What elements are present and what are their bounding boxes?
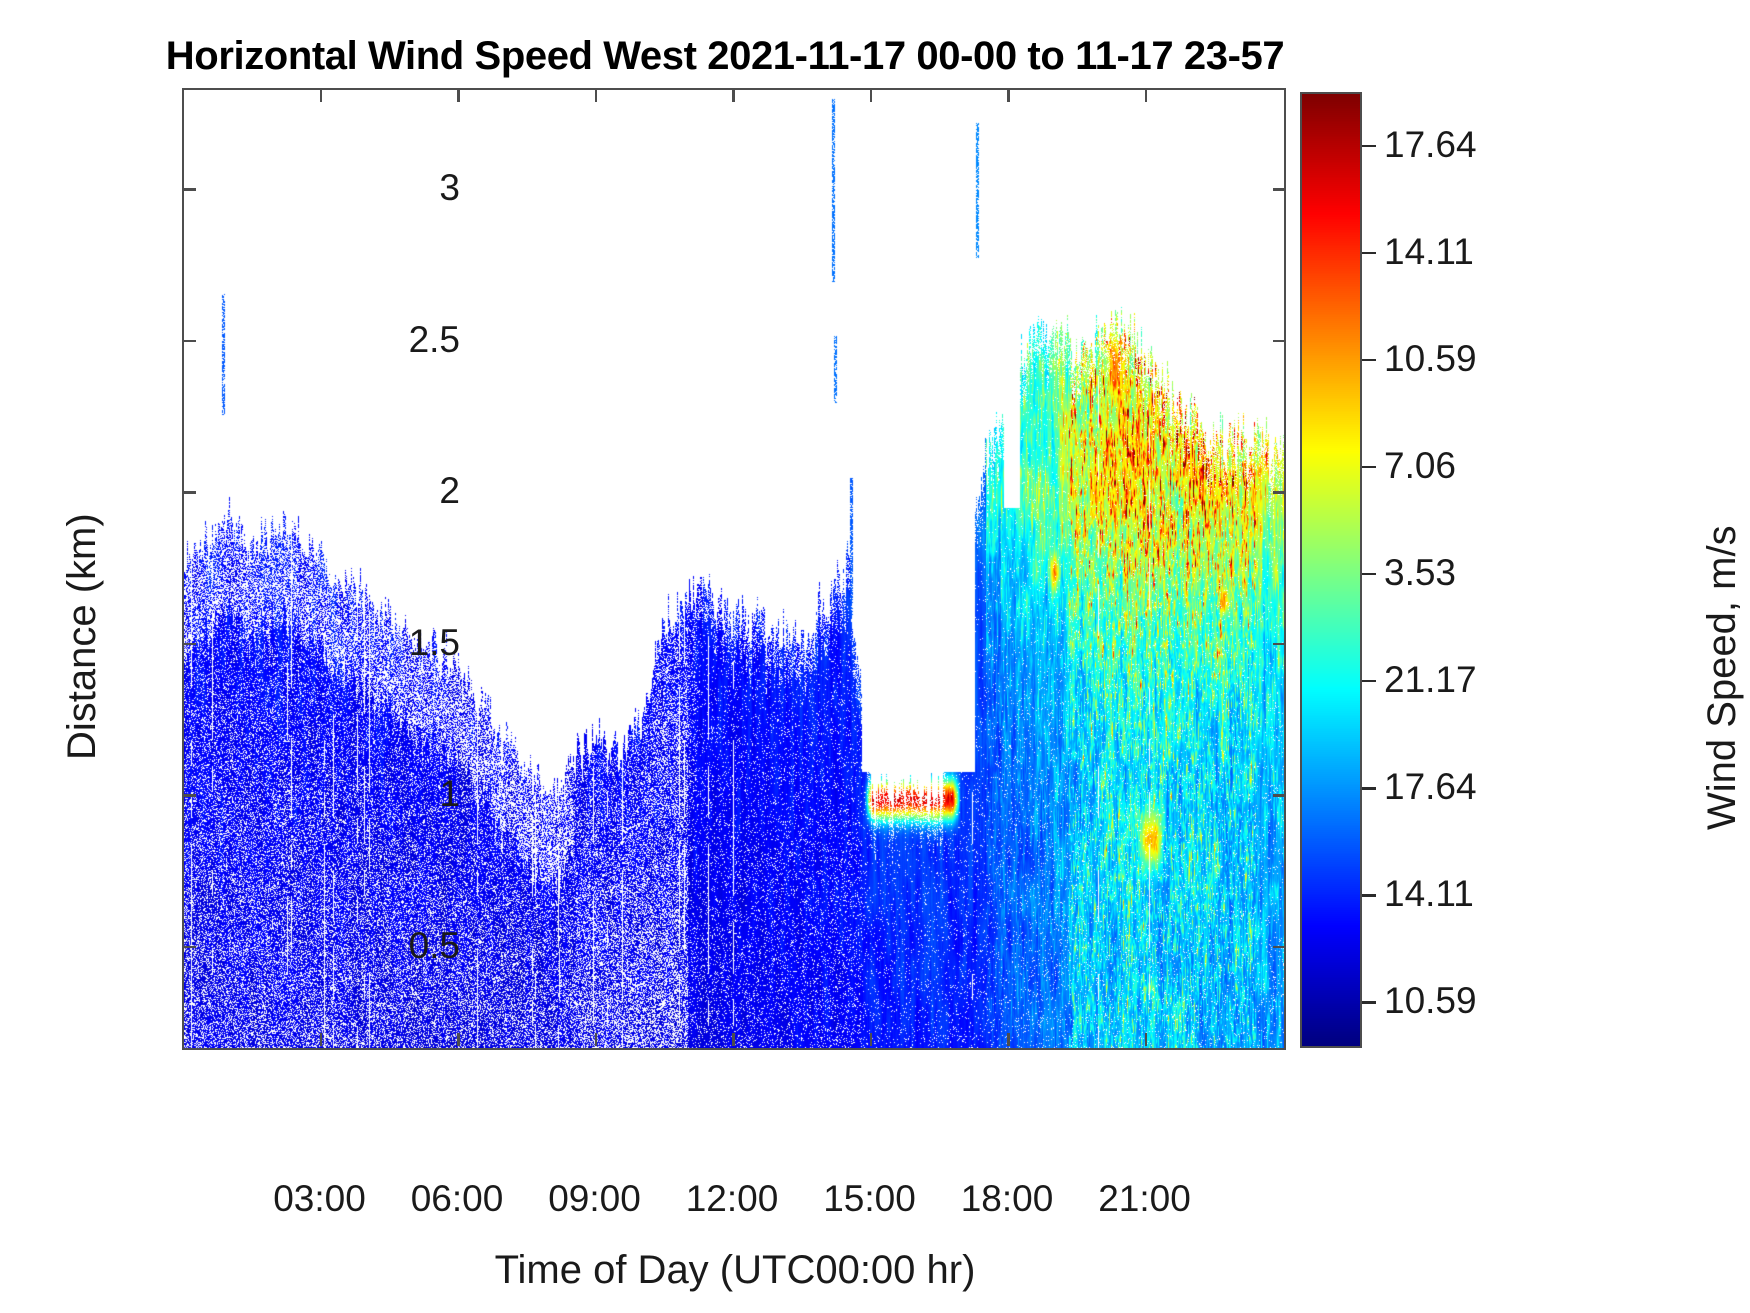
colorbar-title: Wind Speed, m/s [1700,525,1745,830]
x-tick-mark-top [457,89,460,102]
y-tick-mark [183,340,196,343]
y-tick-mark-right [1273,491,1286,494]
x-tick-mark-top [870,89,873,102]
colorbar-tick-mark [1362,359,1376,362]
y-tick-label: 2 [439,470,460,512]
y-tick-mark-right [1273,794,1286,797]
y-tick-mark-right [1273,188,1286,191]
x-tick-mark [595,1033,598,1046]
x-tick-mark [1007,1033,1010,1046]
y-tick-mark-right [1273,340,1286,343]
colorbar-tick-mark [1362,787,1376,790]
colorbar-tick-label: 17.64 [1384,124,1477,166]
colorbar-tick-label: 14.11 [1384,873,1474,915]
x-tick-mark-top [320,89,323,102]
y-tick-mark-right [1273,643,1286,646]
colorbar [1300,92,1362,1048]
y-tick-label: 1.5 [409,622,460,664]
x-tick-label: 12:00 [686,1178,779,1220]
chart-title: Horizontal Wind Speed West 2021-11-17 00… [0,34,1450,79]
colorbar-tick-mark [1362,573,1376,576]
x-tick-label: 15:00 [823,1178,916,1220]
x-tick-label: 09:00 [548,1178,641,1220]
figure-root: Horizontal Wind Speed West 2021-11-17 00… [0,0,1750,1313]
x-tick-mark [457,1033,460,1046]
plot-area [182,88,1286,1050]
y-tick-mark [183,643,196,646]
x-tick-mark-top [732,89,735,102]
colorbar-tick-label: 7.06 [1384,445,1456,487]
x-tick-label: 03:00 [273,1178,366,1220]
x-tick-mark-top [595,89,598,102]
colorbar-tick-label: 3.53 [1384,552,1456,594]
y-axis-title: Distance (km) [60,513,105,760]
colorbar-tick-mark [1362,145,1376,148]
heatmap-canvas [184,90,1284,1048]
y-tick-mark-right [1273,946,1286,949]
colorbar-gradient [1302,94,1360,1046]
x-tick-mark [1145,1033,1148,1046]
y-tick-label: 1 [439,773,460,815]
x-tick-mark-top [1145,89,1148,102]
y-tick-label: 3 [439,167,460,209]
colorbar-tick-mark [1362,252,1376,255]
y-tick-label: 0.5 [409,925,460,967]
y-tick-mark [183,491,196,494]
y-tick-mark [183,188,196,191]
colorbar-tick-mark [1362,466,1376,469]
x-tick-mark-top [1007,89,1010,102]
y-tick-mark [183,794,196,797]
colorbar-tick-label: 17.64 [1384,766,1477,808]
x-tick-mark [732,1033,735,1046]
x-tick-label: 21:00 [1098,1178,1191,1220]
colorbar-tick-label: 10.59 [1384,338,1477,380]
x-tick-mark [870,1033,873,1046]
x-tick-mark [320,1033,323,1046]
x-tick-label: 06:00 [411,1178,504,1220]
x-axis-title: Time of Day (UTC00:00 hr) [0,1248,1470,1293]
colorbar-tick-mark [1362,894,1376,897]
y-tick-mark [183,946,196,949]
colorbar-tick-mark [1362,1001,1376,1004]
colorbar-tick-label: 14.11 [1384,231,1474,273]
colorbar-tick-label: 10.59 [1384,980,1477,1022]
y-tick-label: 2.5 [409,319,460,361]
x-tick-label: 18:00 [961,1178,1054,1220]
colorbar-tick-mark [1362,680,1376,683]
colorbar-tick-label: 21.17 [1384,659,1477,701]
